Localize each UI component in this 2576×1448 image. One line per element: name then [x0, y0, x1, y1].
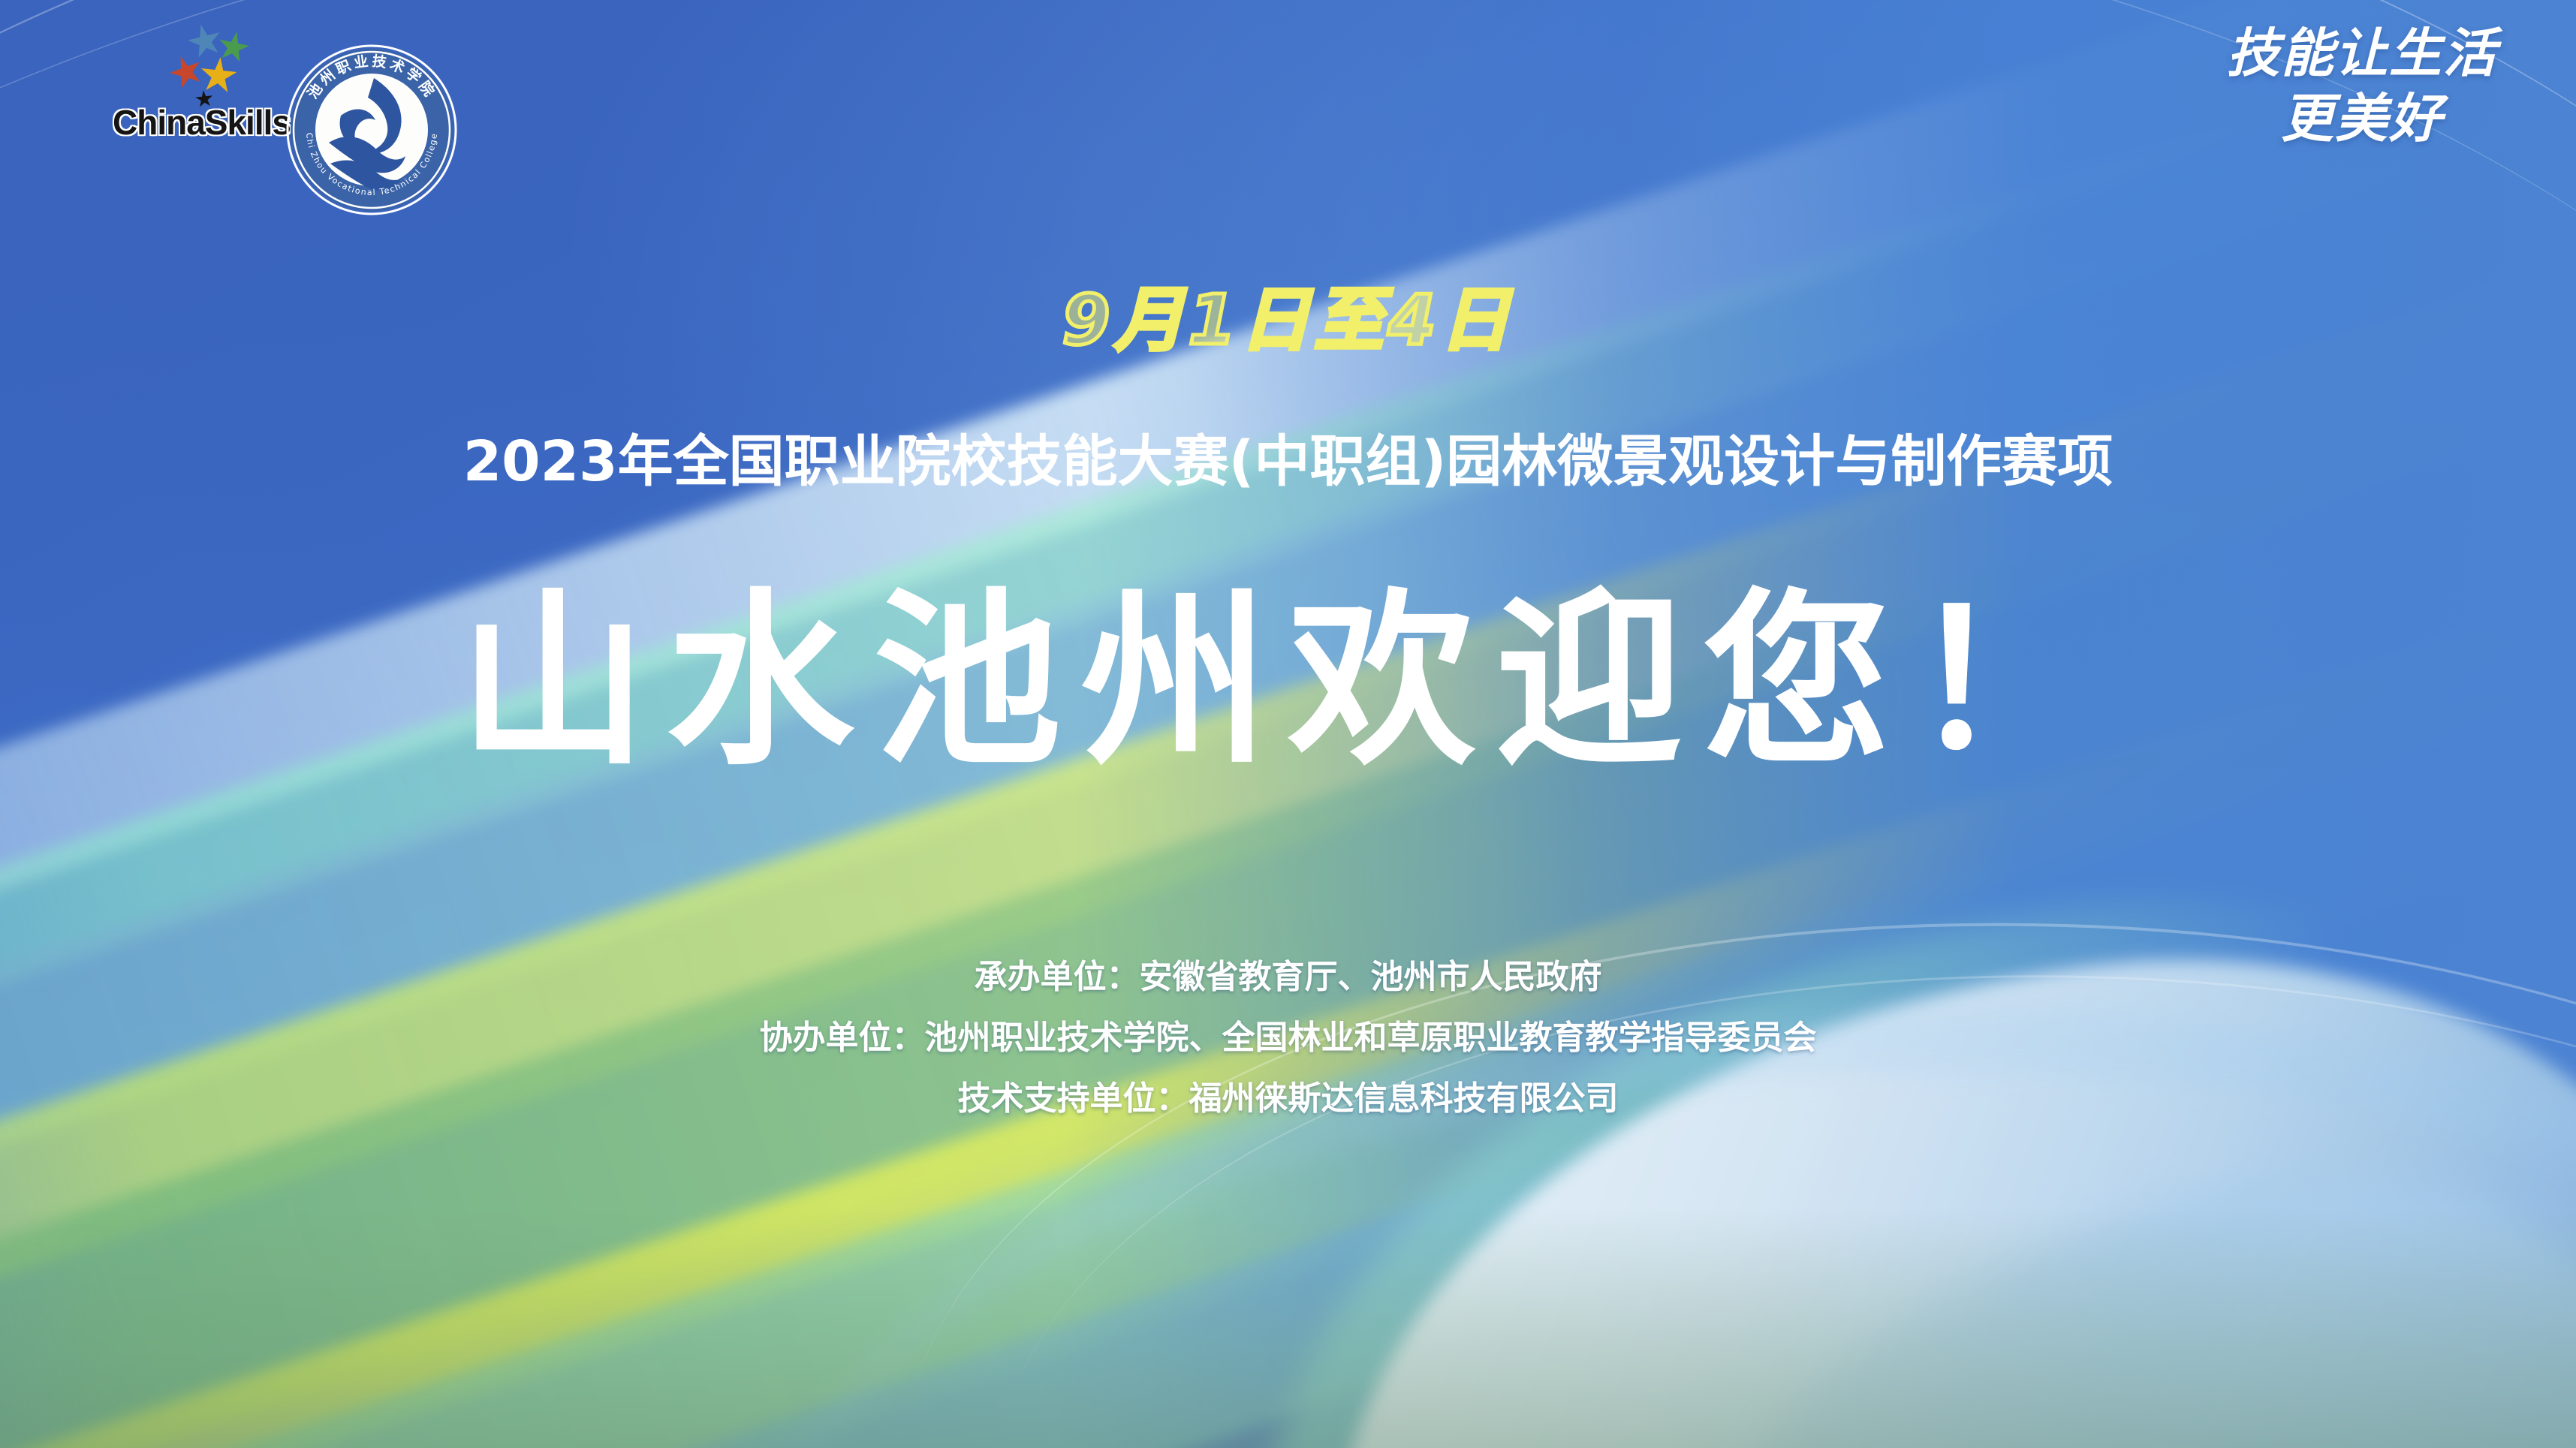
chinaskills-wordmark: ChinaSkills: [113, 102, 263, 143]
welcome-headline: 山水池州欢迎您！: [0, 570, 2576, 792]
top-slogan: 技能让生活 更美好: [2227, 21, 2497, 152]
event-subtitle: 2023年全国职业院校技能大赛(中职组)园林微景观设计与制作赛项: [0, 417, 2576, 497]
star-icon-yellow: [198, 56, 240, 97]
chinaskills-logo: ChinaSkills: [113, 21, 263, 164]
star-icon-blue: [184, 20, 226, 62]
event-date-range: 9月1日至4日: [0, 264, 2576, 364]
top-slogan-line2: 更美好: [2227, 86, 2497, 152]
event-banner-poster: ChinaSkills 池州职业技术学院: [0, 0, 2576, 1448]
college-emblem-svg: 池州职业技术学院 Chi Zhou Vocational Technical C…: [285, 44, 458, 216]
top-slogan-line1: 技能让生活: [2227, 21, 2497, 86]
organizer-block: 承办单位：安徽省教育厅、池州市人民政府 协办单位：池州职业技术学院、全国林业和草…: [0, 947, 2576, 1130]
chinaskills-stars-icon: [152, 24, 257, 114]
organizer-line-technical: 技术支持单位：福州徕斯达信息科技有限公司: [0, 1069, 2576, 1130]
logo-row: ChinaSkills 池州职业技术学院: [113, 21, 458, 216]
star-icon-red: [165, 51, 207, 93]
college-emblem-logo: 池州职业技术学院 Chi Zhou Vocational Technical C…: [285, 44, 458, 216]
organizer-line-cohost: 协办单位：池州职业技术学院、全国林业和草原职业教育教学指导委员会: [0, 1008, 2576, 1069]
organizer-line-host: 承办单位：安徽省教育厅、池州市人民政府: [0, 947, 2576, 1008]
